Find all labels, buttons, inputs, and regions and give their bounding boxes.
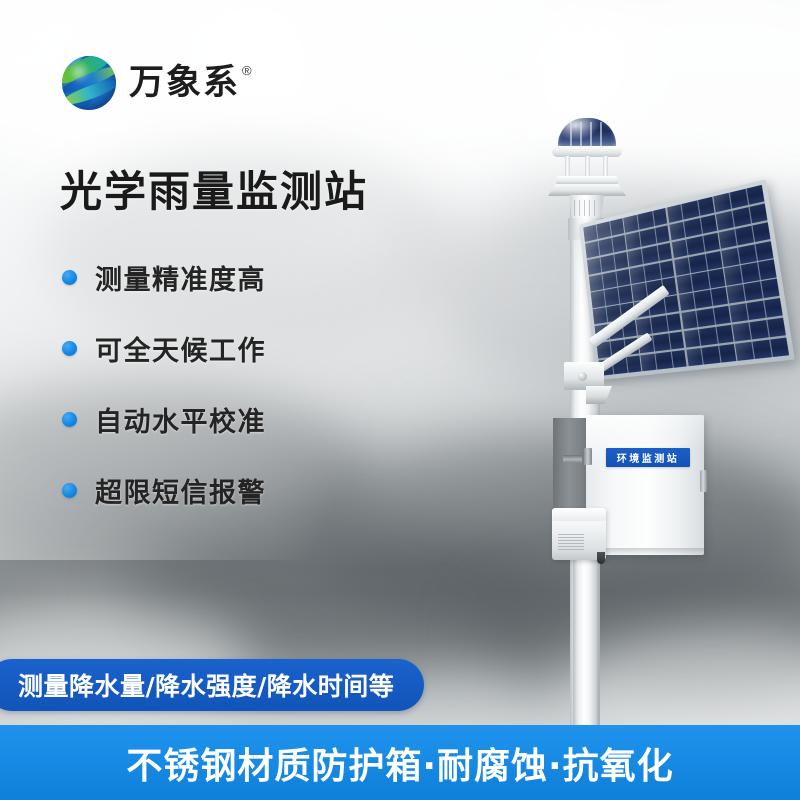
blue-dot-icon bbox=[62, 270, 77, 285]
footer-bar: 不锈钢材质防护箱·耐腐蚀·抗氧化 bbox=[0, 725, 800, 800]
feature-list: 测量精准度高 可全天候工作 自动水平校准 超限短信报警 bbox=[62, 258, 266, 510]
blue-dot-icon bbox=[62, 341, 77, 356]
footer-text: 不锈钢材质防护箱·耐腐蚀·抗氧化 bbox=[126, 737, 673, 789]
page-title: 光学雨量监测站 bbox=[60, 168, 368, 216]
list-item: 自动水平校准 bbox=[62, 400, 266, 439]
brand-name-wrap: 万象系 ® bbox=[129, 66, 252, 101]
blue-dot-icon bbox=[62, 483, 77, 498]
brand-name: 万象系 bbox=[129, 66, 240, 101]
product-poster: 环境监测站 万象系 ® 光学雨量监测站 测量精准度高 bbox=[0, 0, 800, 800]
list-item: 超限短信报警 bbox=[62, 471, 266, 510]
registered-trademark-icon: ® bbox=[242, 64, 252, 77]
list-item: 可全天候工作 bbox=[62, 329, 266, 368]
globe-sphere-logo-icon bbox=[62, 56, 116, 110]
feature-label: 超限短信报警 bbox=[95, 471, 266, 510]
list-item: 测量精准度高 bbox=[62, 258, 266, 297]
feature-label: 测量精准度高 bbox=[95, 258, 266, 297]
feature-label: 可全天候工作 bbox=[95, 329, 266, 368]
logo-highlight bbox=[72, 65, 86, 79]
brand-logo: 万象系 ® bbox=[62, 56, 252, 110]
highlight-banner-text: 测量降水量/降水强度/降水时间等 bbox=[18, 667, 394, 703]
blue-dot-icon bbox=[62, 412, 77, 427]
highlight-banner: 测量降水量/降水强度/降水时间等 bbox=[0, 659, 424, 711]
feature-label: 自动水平校准 bbox=[95, 400, 266, 439]
